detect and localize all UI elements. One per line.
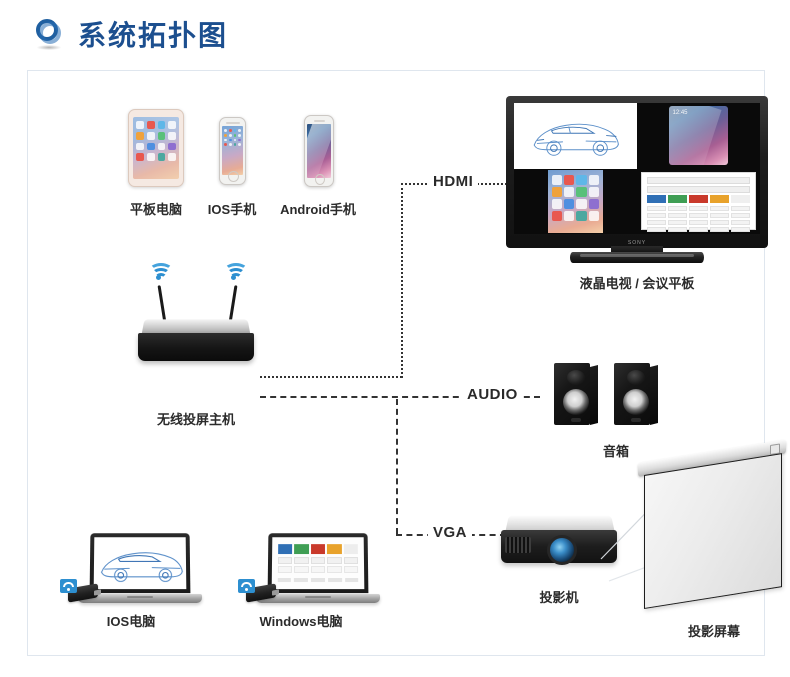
iphone-icon: [219, 117, 246, 185]
projector-icon: [501, 515, 617, 567]
projection-screen-icon: [638, 463, 786, 615]
node-windows-laptop[interactable]: Windows电脑: [206, 533, 396, 641]
node-android-phone[interactable]: Android手机: [266, 109, 370, 227]
node-projection-screen[interactable]: 投影屏幕: [638, 463, 790, 639]
television-icon: 12:45: [506, 96, 768, 264]
node-label-android-phone: Android手机: [266, 199, 370, 218]
node-ios-laptop[interactable]: IOS电脑: [46, 533, 216, 641]
wifi-dongle-icon: [238, 579, 280, 603]
topology-diagram: 平板电脑 IOS手机 Android手机: [27, 70, 765, 656]
node-projector[interactable]: 投影机: [483, 509, 635, 619]
node-label-projector: 投影机: [483, 587, 635, 606]
page-title: 系统拓扑图: [78, 14, 228, 54]
tv-quadrant-car-sketch: [514, 103, 637, 169]
speaker-icon: [554, 363, 598, 425]
wifi-dongle-icon: [60, 579, 102, 603]
android-phone-icon: [304, 115, 334, 187]
tv-quadrant-android: 12:45: [637, 103, 760, 169]
speaker-icon: [614, 363, 658, 425]
connector-hdmi-segment-horizontal-lower: [260, 376, 402, 378]
wireless-router-icon: [138, 319, 254, 363]
connector-hdmi-segment-vertical: [401, 183, 403, 378]
node-label-projection-screen: 投影屏幕: [638, 621, 790, 640]
tv-quadrant-chart: [637, 169, 760, 235]
wifi-signal-icon: [222, 263, 244, 280]
connector-label-audio: AUDIO: [462, 386, 523, 403]
tv-quadrant-ipad: [514, 169, 637, 235]
blue-circle-icon: [36, 19, 64, 47]
node-label-windows-laptop: Windows电脑: [206, 611, 396, 630]
connector-label-hdmi: HDMI: [428, 173, 478, 190]
node-wireless-hub[interactable]: 无线投屏主机: [116, 257, 276, 439]
wifi-signal-icon: [147, 263, 169, 280]
node-label-ios-laptop: IOS电脑: [46, 611, 216, 630]
connector-label-vga: VGA: [428, 524, 472, 541]
connector-vga-segment-vertical: [396, 399, 398, 534]
node-label-television: 液晶电视 / 会议平板: [506, 273, 768, 292]
node-label-wireless-hub: 无线投屏主机: [116, 409, 276, 428]
tablet-icon: [128, 109, 184, 187]
node-label-ios-phone: IOS手机: [186, 199, 278, 218]
node-ios-phone[interactable]: IOS手机: [186, 109, 278, 227]
node-television[interactable]: 12:45: [506, 96, 768, 296]
page-header: 系统拓扑图: [0, 0, 790, 70]
